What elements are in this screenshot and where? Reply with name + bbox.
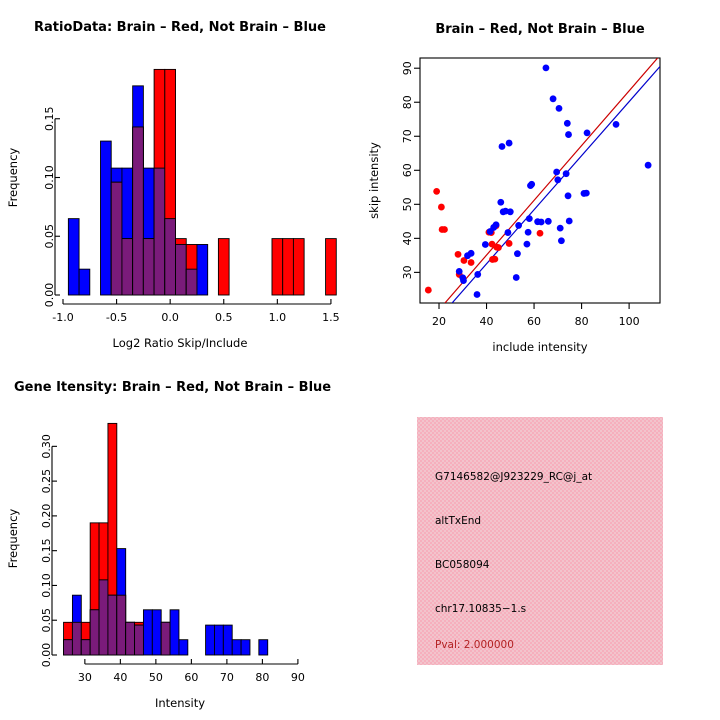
- scatter-point: [468, 250, 475, 257]
- y-tick-label: 0.10: [40, 573, 53, 598]
- x-tick-label: 60: [184, 671, 198, 684]
- y-tick-label: 0.25: [40, 469, 53, 494]
- fit-line-brain-fit: [445, 58, 658, 303]
- y-tick-label: 0.00: [40, 643, 53, 668]
- histogram-bar-blue: [214, 625, 223, 655]
- histogram-bar-blue: [170, 610, 179, 655]
- scatter-point: [455, 251, 462, 258]
- fit-line-notbrain-fit: [452, 67, 660, 303]
- histogram-bar-overlap: [108, 595, 117, 655]
- panel-ratio-histogram: RatioData: Brain – Red, Not Brain – Blue…: [0, 0, 360, 360]
- x-tick-label: 40: [480, 315, 494, 328]
- histogram-bar-overlap: [90, 610, 99, 655]
- y-axis-label: Frequency: [6, 509, 20, 569]
- scatter-point: [583, 190, 590, 197]
- scatter-point: [564, 120, 571, 127]
- info-accession: BC058094: [435, 559, 489, 571]
- y-tick-label: 50: [401, 197, 414, 211]
- y-tick-label: 70: [401, 129, 414, 143]
- x-tick-label: 20: [432, 315, 446, 328]
- histogram-bar-overlap: [117, 595, 126, 655]
- histogram-bar-blue: [259, 640, 268, 655]
- histogram-bar-overlap: [133, 127, 144, 295]
- x-tick-label: 1.0: [269, 311, 287, 324]
- info-event-type: altTxEnd: [435, 515, 481, 527]
- histogram-bar-overlap: [111, 182, 122, 295]
- y-tick-label: 0.05: [40, 608, 53, 633]
- histogram-bar-blue: [101, 141, 112, 295]
- scatter-point: [537, 230, 544, 237]
- scatter-point: [499, 143, 506, 150]
- scatter-point: [468, 259, 475, 266]
- histogram-bar-overlap: [186, 269, 197, 295]
- scatter-point: [550, 95, 557, 102]
- y-tick-label: 0.00: [43, 283, 56, 308]
- panel-gene-histogram: Gene Itensity: Brain – Red, Not Brain – …: [0, 360, 360, 720]
- scatter-canvas: 3040506070809020406080100include intensi…: [360, 0, 720, 360]
- y-axis-label: Frequency: [6, 148, 20, 208]
- x-tick-label: -1.0: [52, 311, 73, 324]
- scatter-point: [556, 105, 563, 112]
- panel-scatter: Brain – Red, Not Brain – Blue 3040506070…: [360, 0, 720, 360]
- histogram-bar-blue: [232, 640, 241, 655]
- scatter-point: [645, 162, 652, 169]
- x-tick-label: -0.5: [106, 311, 127, 324]
- scatter-point: [491, 256, 498, 263]
- histogram-bar-blue: [68, 219, 79, 295]
- scatter-point: [525, 229, 532, 236]
- x-tick-label: 50: [149, 671, 163, 684]
- scatter-point: [566, 218, 573, 225]
- scatter-point: [545, 218, 552, 225]
- histogram-bar-red: [293, 239, 304, 295]
- scatter-point: [563, 170, 570, 177]
- scatter-point: [526, 215, 533, 222]
- scatter-point: [474, 291, 481, 298]
- scatter-point: [441, 226, 448, 233]
- y-tick-label: 0.15: [43, 107, 56, 132]
- scatter-point: [528, 181, 535, 188]
- scatter-point: [515, 222, 522, 229]
- y-tick-label: 40: [401, 231, 414, 245]
- x-tick-label: 1.5: [322, 311, 340, 324]
- histogram-bar-overlap: [135, 625, 144, 655]
- ratio-histogram-canvas: 0.000.050.100.15-1.0-0.50.00.51.01.5Log2…: [0, 0, 360, 360]
- histogram-bar-blue: [223, 625, 232, 655]
- scatter-point: [565, 131, 572, 138]
- scatter-point: [495, 244, 502, 251]
- histogram-bar-blue: [152, 610, 161, 655]
- ratio-histogram-title: RatioData: Brain – Red, Not Brain – Blue: [0, 20, 360, 35]
- x-axis-label: Log2 Ratio Skip/Include: [113, 336, 248, 350]
- y-tick-label: 0.30: [40, 434, 53, 459]
- scatter-point: [557, 225, 564, 232]
- x-tick-label: 80: [255, 671, 269, 684]
- gene-histogram-canvas: 0.000.050.100.150.200.250.30304050607080…: [0, 360, 360, 720]
- y-tick-label: 0.20: [40, 504, 53, 529]
- scatter-point: [425, 287, 432, 294]
- histogram-bar-overlap: [122, 239, 133, 295]
- histogram-bar-blue: [206, 625, 215, 655]
- scatter-point: [553, 169, 560, 176]
- scatter-point: [505, 229, 512, 236]
- x-tick-label: 60: [527, 315, 541, 328]
- histogram-bar-overlap: [72, 622, 81, 655]
- scatter-point: [506, 140, 513, 147]
- scatter-point: [524, 241, 531, 248]
- histogram-bar-overlap: [99, 580, 108, 655]
- histogram-bar-overlap: [161, 622, 170, 655]
- scatter-point: [613, 121, 620, 128]
- histogram-bar-blue: [79, 269, 90, 295]
- scatter-point: [514, 250, 521, 257]
- x-tick-label: 0.0: [161, 311, 179, 324]
- histogram-bar-overlap: [81, 640, 90, 655]
- scatter-title: Brain – Red, Not Brain – Blue: [360, 22, 720, 37]
- histogram-bar-overlap: [154, 168, 165, 295]
- histogram-bar-overlap: [176, 244, 187, 295]
- histogram-bar-blue: [143, 610, 152, 655]
- scatter-point: [565, 192, 572, 199]
- gene-histogram-title: Gene Itensity: Brain – Red, Not Brain – …: [0, 380, 374, 395]
- scatter-point: [460, 277, 467, 284]
- scatter-point: [474, 271, 481, 278]
- histogram-bar-overlap: [64, 640, 73, 655]
- y-tick-label: 80: [401, 95, 414, 109]
- y-tick-label: 30: [401, 265, 414, 279]
- y-tick-label: 60: [401, 163, 414, 177]
- x-axis-label: include intensity: [492, 340, 587, 354]
- info-coordinate: chr17.10835−1.s: [435, 603, 526, 615]
- y-tick-label: 0.05: [43, 224, 56, 249]
- histogram-bar-red: [283, 239, 294, 295]
- x-axis-label: Intensity: [155, 696, 205, 710]
- y-tick-label: 0.10: [43, 165, 56, 190]
- scatter-point: [456, 268, 463, 275]
- histogram-bar-red: [272, 239, 283, 295]
- ratio-plot-area: 0.000.050.100.15-1.0-0.50.00.51.01.5Log2…: [6, 69, 340, 350]
- x-tick-label: 80: [575, 315, 589, 328]
- x-tick-label: 0.5: [215, 311, 233, 324]
- y-tick-label: 90: [401, 61, 414, 75]
- scatter-point: [554, 176, 561, 183]
- histogram-bar-red: [218, 239, 229, 295]
- histogram-bar-overlap: [126, 622, 135, 655]
- scatter-plot-area: 3040506070809020406080100include intensi…: [367, 58, 660, 354]
- scatter-point: [493, 221, 500, 228]
- x-tick-label: 70: [220, 671, 234, 684]
- scatter-point: [438, 204, 445, 211]
- histogram-bar-overlap: [143, 239, 154, 295]
- x-tick-label: 30: [78, 671, 92, 684]
- scatter-point: [506, 240, 513, 247]
- histogram-bar-blue: [241, 640, 250, 655]
- scatter-point: [507, 208, 514, 215]
- histogram-bar-blue: [197, 244, 208, 295]
- gene-plot-area: 0.000.050.100.150.200.250.30304050607080…: [6, 423, 305, 710]
- scatter-point: [538, 219, 545, 226]
- scatter-point: [584, 129, 591, 136]
- info-pval: Pval: 2.000000: [435, 639, 514, 651]
- scatter-point: [558, 237, 565, 244]
- y-axis-label: skip intensity: [367, 142, 381, 219]
- scatter-point: [482, 241, 489, 248]
- histogram-bar-red: [326, 239, 337, 295]
- y-tick-label: 0.15: [40, 538, 53, 563]
- histogram-bar-blue: [179, 640, 188, 655]
- gene-info-panel: G7146582@J923229_RC@j_at altTxEnd BC0580…: [417, 417, 663, 665]
- scatter-inner: [425, 58, 660, 303]
- info-probeset-id: G7146582@J923229_RC@j_at: [435, 471, 592, 483]
- x-tick-label: 100: [619, 315, 640, 328]
- scatter-point: [543, 64, 550, 71]
- histogram-bar-overlap: [165, 219, 176, 295]
- plot-box: [420, 58, 660, 303]
- x-tick-label: 90: [291, 671, 305, 684]
- scatter-point: [497, 199, 504, 206]
- x-tick-label: 40: [113, 671, 127, 684]
- scatter-point: [513, 274, 520, 281]
- scatter-point: [433, 188, 440, 195]
